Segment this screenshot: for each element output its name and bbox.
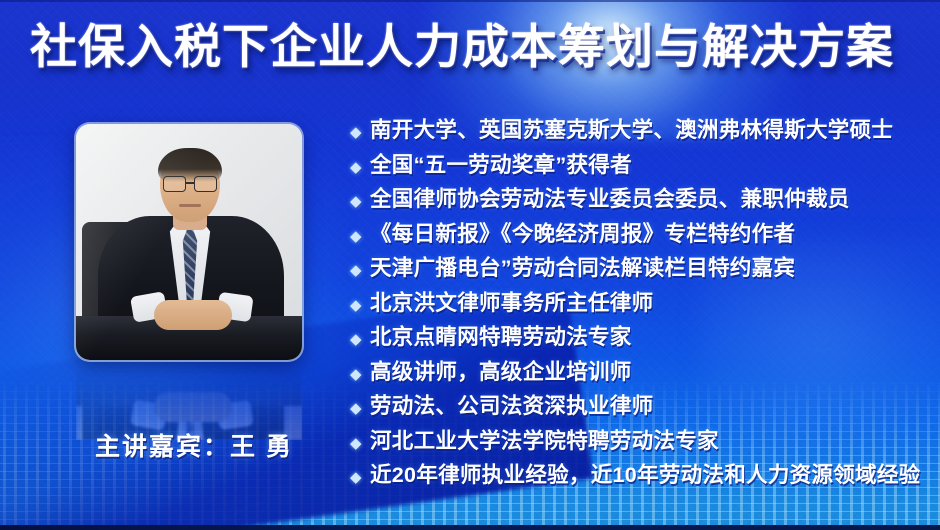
diamond-bullet-icon: ◆	[350, 358, 370, 393]
list-item: ◆ 北京点睛网特聘劳动法专家	[350, 320, 940, 355]
list-item-label: 天津广播电台”劳动合同法解读栏目特约嘉宾	[370, 251, 795, 286]
slide-top-edge	[0, 0, 940, 2]
diamond-bullet-icon: ◆	[350, 392, 370, 427]
speaker-portrait-illustration	[76, 124, 302, 360]
list-item-label: 全国“五一劳动奖章”获得者	[370, 148, 632, 183]
diamond-bullet-icon: ◆	[350, 220, 370, 255]
list-item: ◆ 《每日新报》《今晚经济周报》专栏特约作者	[350, 217, 940, 252]
list-item-label: 南开大学、英国苏塞克斯大学、澳洲弗林得斯大学硕士	[370, 113, 893, 148]
diamond-bullet-icon: ◆	[350, 289, 370, 324]
list-item-label: 北京洪文律师事务所主任律师	[370, 286, 653, 321]
list-item-label: 《每日新报》《今晚经济周报》专栏特约作者	[370, 217, 795, 252]
list-item: ◆ 天津广播电台”劳动合同法解读栏目特约嘉宾	[350, 251, 940, 286]
list-item-label: 近20年律师执业经验，近10年劳动法和人力资源领域经验	[370, 458, 920, 493]
list-item: ◆ 劳动法、公司法资深执业律师	[350, 389, 940, 424]
diamond-bullet-icon: ◆	[350, 185, 370, 220]
list-item: ◆ 河北工业大学法学院特聘劳动法专家	[350, 424, 940, 459]
list-item: ◆ 全国律师协会劳动法专业委员会委员、兼职仲裁员	[350, 182, 940, 217]
list-item: ◆ 近20年律师执业经验，近10年劳动法和人力资源领域经验	[350, 458, 940, 493]
diamond-bullet-icon: ◆	[350, 323, 370, 358]
list-item: ◆ 南开大学、英国苏塞克斯大学、澳洲弗林得斯大学硕士	[350, 113, 940, 148]
list-item: ◆ 高级讲师，高级企业培训师	[350, 355, 940, 390]
list-item: ◆ 北京洪文律师事务所主任律师	[350, 286, 940, 321]
slide-bottom-edge	[0, 525, 940, 530]
credentials-list: ◆ 南开大学、英国苏塞克斯大学、澳洲弗林得斯大学硕士 ◆ 全国“五一劳动奖章”获…	[350, 113, 940, 493]
list-item: ◆ 全国“五一劳动奖章”获得者	[350, 148, 940, 183]
eyeglasses-icon	[162, 176, 218, 191]
slide-title: 社保入税下企业人力成本筹划与解决方案	[30, 17, 894, 77]
diamond-bullet-icon: ◆	[350, 427, 370, 462]
list-item-label: 劳动法、公司法资深执业律师	[370, 389, 653, 424]
diamond-bullet-icon: ◆	[350, 461, 370, 496]
diamond-bullet-icon: ◆	[350, 116, 370, 151]
clasped-hands-shape	[154, 300, 232, 330]
speaker-photo	[76, 124, 302, 360]
list-item-label: 北京点睛网特聘劳动法专家	[370, 320, 632, 355]
presentation-slide: 社保入税下企业人力成本筹划与解决方案	[0, 0, 940, 530]
speaker-caption: 主讲嘉宾：王 勇	[74, 427, 314, 463]
diamond-bullet-icon: ◆	[350, 254, 370, 289]
list-item-label: 全国律师协会劳动法专业委员会委员、兼职仲裁员	[370, 182, 850, 217]
diamond-bullet-icon: ◆	[350, 151, 370, 186]
list-item-label: 高级讲师，高级企业培训师	[370, 355, 632, 390]
list-item-label: 河北工业大学法学院特聘劳动法专家	[370, 424, 719, 459]
mouth-shape	[179, 204, 201, 207]
